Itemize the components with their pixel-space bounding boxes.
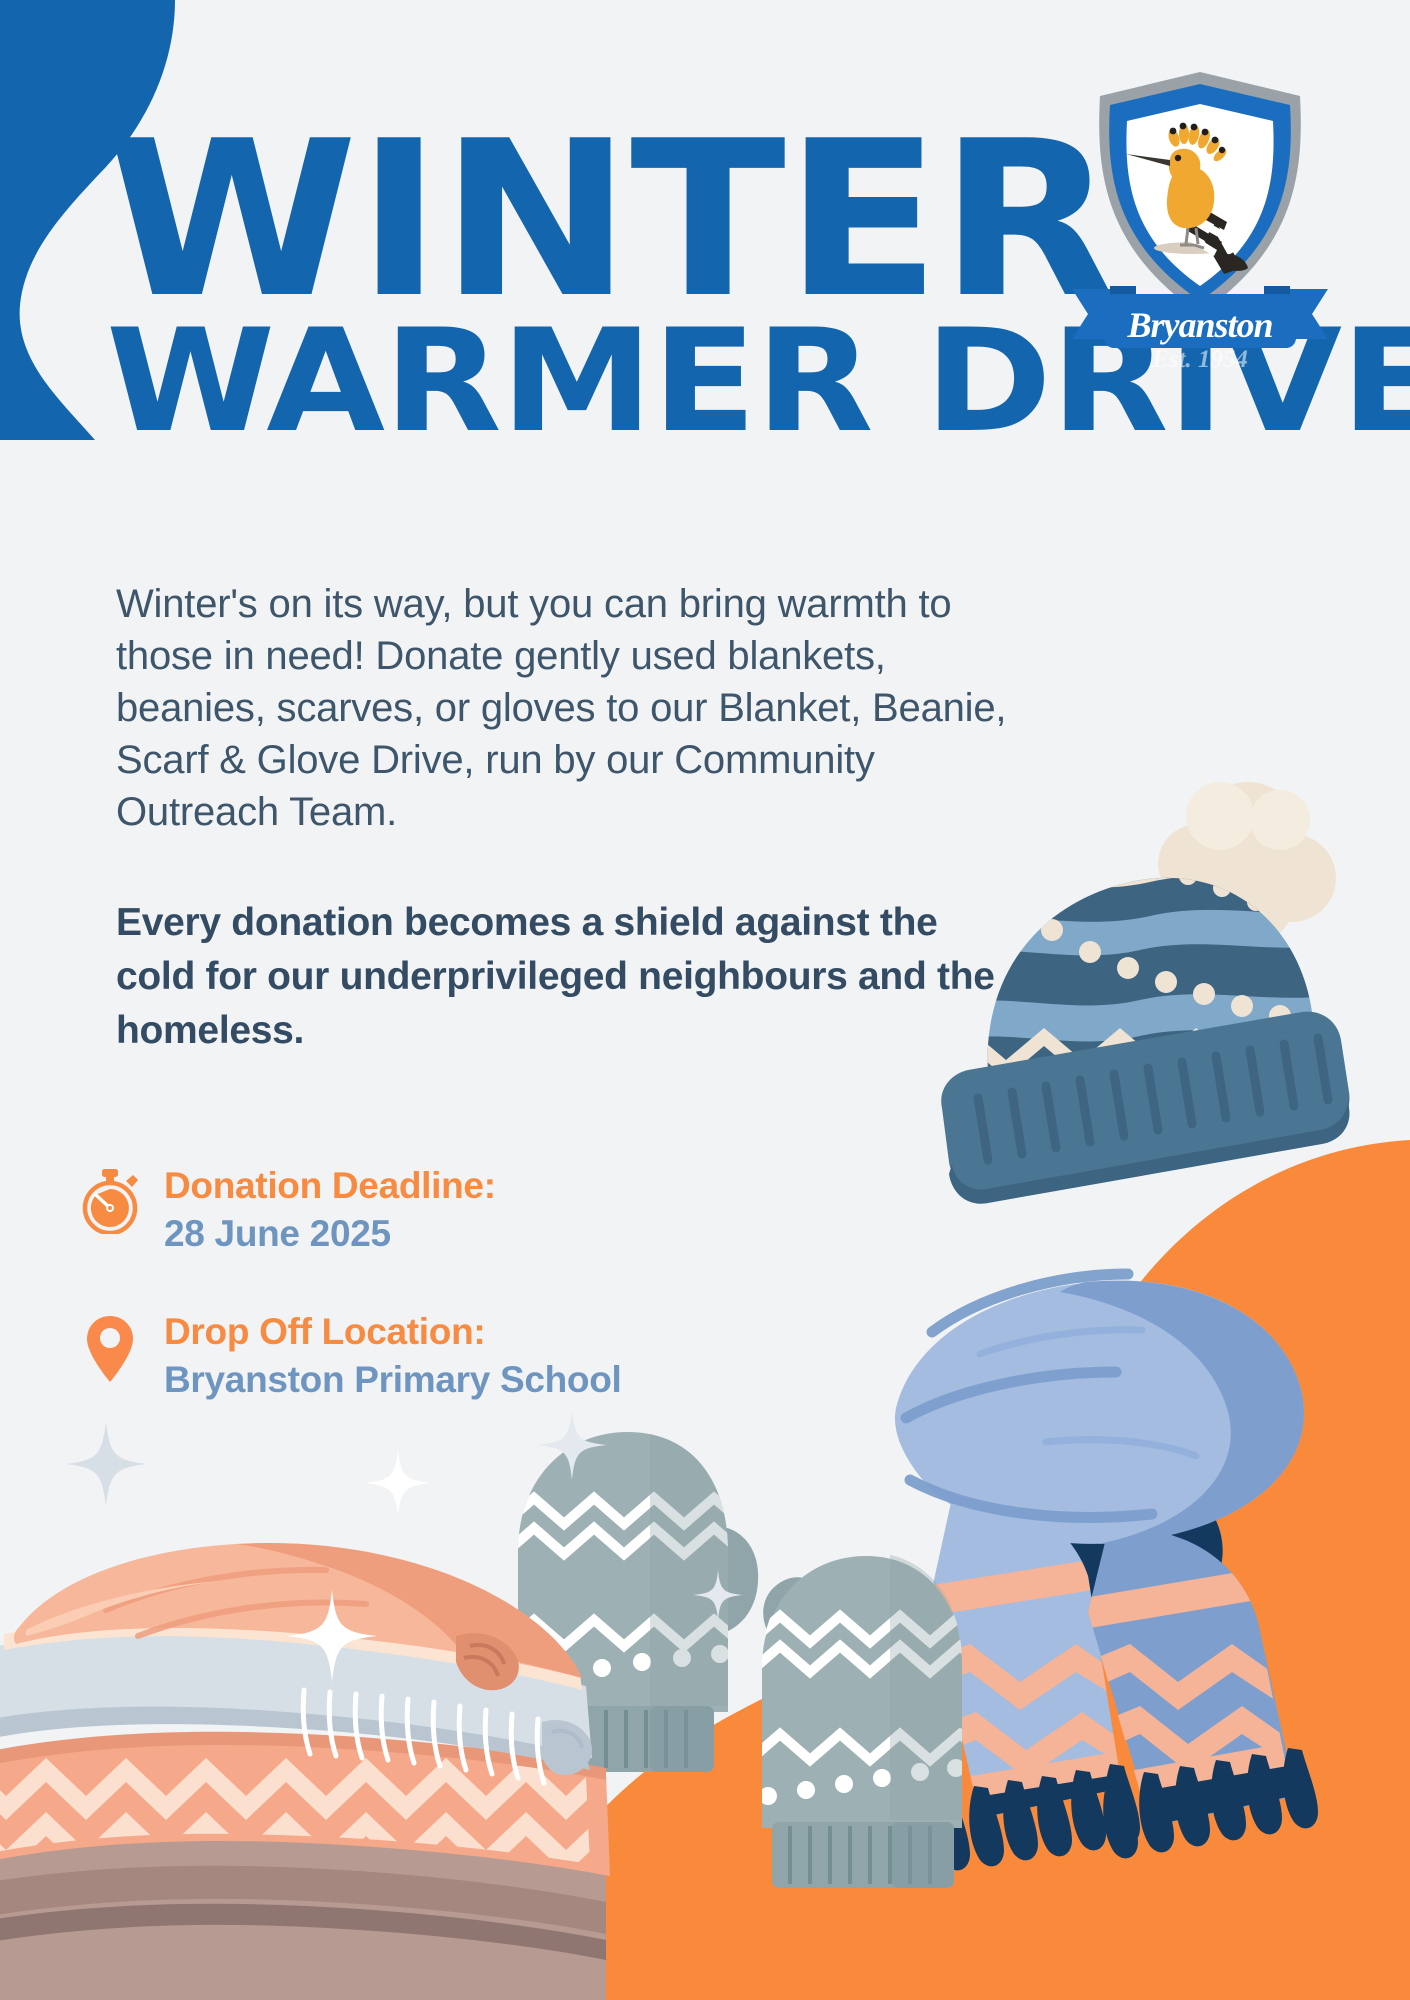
intro-paragraph: Winter's on its way, but you can bring w… bbox=[116, 578, 1036, 838]
info-row-location: Drop Off Location: Bryanston Primary Sch… bbox=[78, 1308, 938, 1412]
poster-header: WINTER WARMER DRIVE bbox=[0, 0, 1410, 560]
deadline-text: Donation Deadline: 28 June 2025 bbox=[164, 1162, 496, 1256]
crest-established: Est. 1954 bbox=[1151, 346, 1248, 372]
info-row-deadline: Donation Deadline: 28 June 2025 bbox=[78, 1162, 938, 1266]
highlight-paragraph: Every donation becomes a shield against … bbox=[116, 896, 1016, 1057]
location-text: Drop Off Location: Bryanston Primary Sch… bbox=[164, 1308, 622, 1402]
deadline-value: 28 June 2025 bbox=[164, 1212, 496, 1256]
location-value: Bryanston Primary School bbox=[164, 1358, 622, 1402]
crest-name: Bryanston bbox=[1126, 305, 1272, 345]
poster-copy: Winter's on its way, but you can bring w… bbox=[116, 578, 1036, 1057]
deadline-label: Donation Deadline: bbox=[164, 1164, 496, 1208]
location-pin-icon bbox=[78, 1308, 142, 1412]
page-title: WINTER WARMER DRIVE bbox=[106, 132, 1106, 441]
info-block: Donation Deadline: 28 June 2025 Drop Off… bbox=[78, 1162, 938, 1454]
poster: WINTER WARMER DRIVE bbox=[0, 0, 1410, 2000]
stopwatch-icon bbox=[78, 1162, 142, 1266]
bryanston-school-crest: Bryanston Est. 1954 bbox=[1064, 62, 1336, 372]
location-label: Drop Off Location: bbox=[164, 1310, 622, 1354]
